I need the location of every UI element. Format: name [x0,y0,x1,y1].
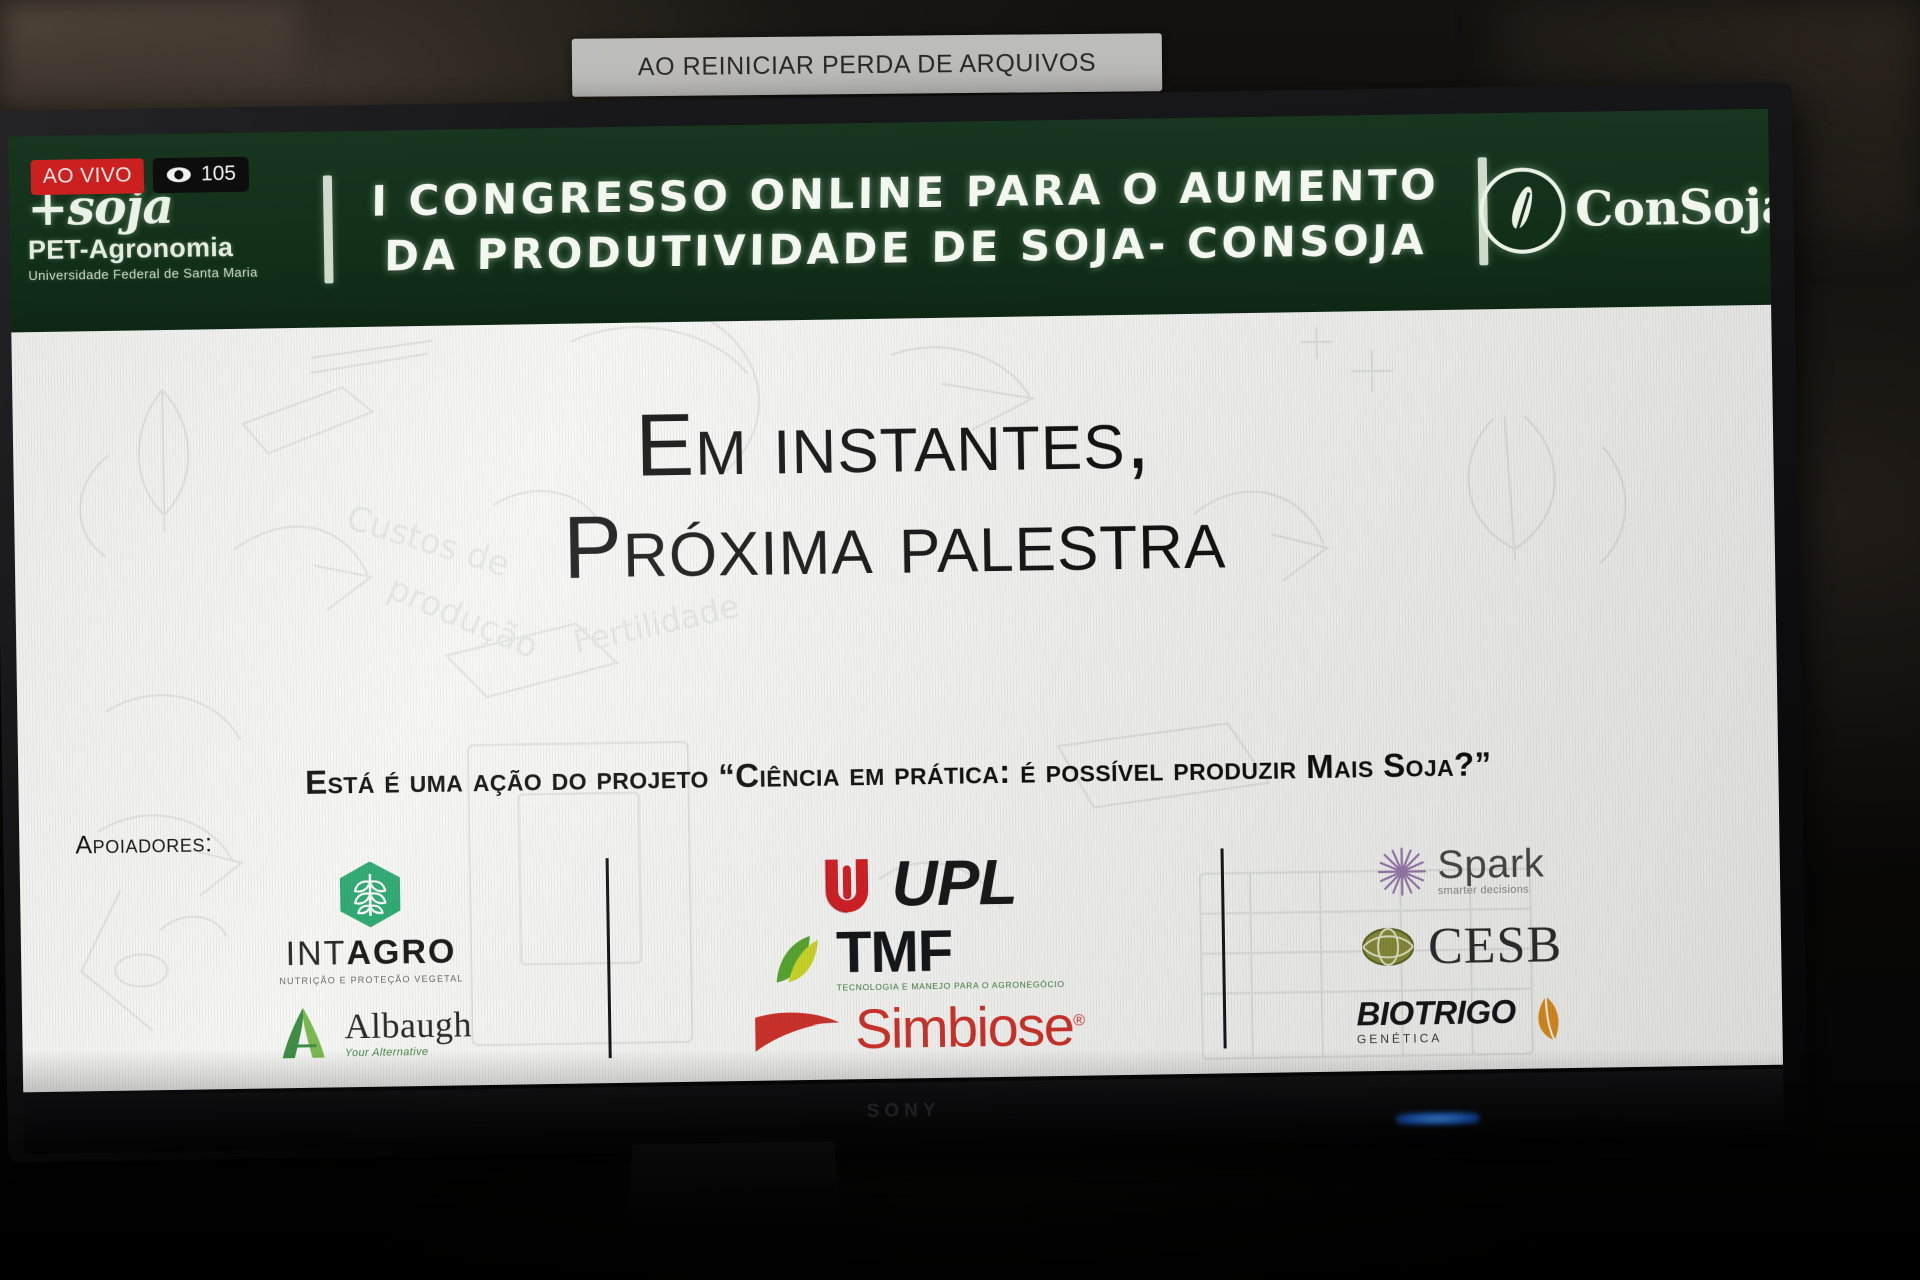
live-badge[interactable]: AO VIVO [31,158,145,195]
spark-wordmark: Spark [1437,843,1545,885]
biotrigo-text: BIOTRIGO GENÉTICA [1356,995,1516,1046]
slide-header-band: +soja PET-Agronomia Universidade Federal… [8,109,1771,333]
upl-wordmark: UPL [891,845,1017,921]
sponsor-cesb[interactable]: CESB [1360,915,1563,977]
sponsor-tmf[interactable]: TMF TECNOLOGIA E MANEJO PARA O AGRONEGÓC… [768,922,1065,993]
biotrigo-wordmark: BIOTRIGO [1356,995,1516,1030]
albaugh-wordmark: Albaugh [344,1003,472,1047]
sponsor-divider-1 [606,858,612,1058]
congress-title-line-1: I CONGRESSO ONLINE PARA O AUMENTO [371,160,1439,226]
wall-light-left [0,0,300,120]
soybean-leaf-circle-icon [1479,167,1566,254]
os-notification-toast[interactable]: AO REINICIAR PERDA DE ARQUIVOS [572,33,1163,97]
supporters-label: Apoiadores: [75,829,213,860]
intagro-word-part-2: AGRO [346,932,457,972]
viewer-count-badge[interactable]: 105 [153,157,250,194]
slide-body: Custos de produção Fertilidade Em instan… [11,305,1783,1093]
header-logo-right: ConSoja [1501,164,1770,254]
sponsor-column-2: UPL TMF [694,843,1137,1063]
sponsor-upl[interactable]: UPL [813,845,1017,922]
hexagon-leaf-icon [340,861,401,928]
sponsor-spark[interactable]: Spark smarter decisions [1375,843,1545,898]
viewer-count-value: 105 [201,162,236,187]
sponsor-biotrigo[interactable]: BIOTRIGO GENÉTICA [1356,994,1568,1047]
consoja-wordmark: ConSoja [1575,178,1783,237]
spark-burst-icon [1375,845,1428,898]
presentation-slide: +soja PET-Agronomia Universidade Federal… [8,109,1783,1093]
tmf-leaf-icon [768,929,827,990]
simbiose-registered: ® [1073,1012,1084,1029]
upl-u-shield-icon [813,851,880,918]
cesb-wordmark: CESB [1428,915,1563,976]
sponsor-column-3: Spark smarter decisions [1310,842,1613,1048]
tmf-wordmark: TMF [836,924,953,981]
spark-text: Spark smarter decisions [1437,843,1545,897]
spark-tagline: smarter decisions [1438,883,1529,896]
biotrigo-tagline: GENÉTICA [1357,1031,1443,1046]
congress-title-line-2: DA PRODUTIVIDADE DE SOJA- CONSOJA [384,215,1428,280]
eye-icon [166,167,192,183]
desk-shadow [0,1050,1920,1280]
monitor-screen: +soja PET-Agronomia Universidade Federal… [8,109,1783,1093]
header-logo-left: +soja PET-Agronomia Universidade Federal… [9,180,311,283]
cesb-sphere-icon [1360,923,1417,970]
congress-title: I CONGRESSO ONLINE PARA O AUMENTO DA PRO… [346,160,1465,282]
sponsor-intagro[interactable]: INTAGRO NUTRIÇÃO E PROTEÇÃO VEGETAL [277,860,463,986]
intagro-tagline: NUTRIÇÃO E PROTEÇÃO VEGETAL [279,973,463,986]
intagro-word-part-1: INT [285,934,346,973]
intagro-wordmark: INTAGRO [285,932,456,974]
pet-agronomia-label: PET-Agronomia [28,231,310,266]
headline-block: Em instantes, Próxima palestra [12,377,1775,607]
sponsor-column-1: INTAGRO NUTRIÇÃO E PROTEÇÃO VEGETAL [220,859,523,1065]
stream-status-overlay: AO VIVO 105 [31,157,250,195]
header-divider-left [323,175,334,283]
photo-scene: AO REINICIAR PERDA DE ARQUIVOS +soja PET… [0,0,1920,1280]
sponsor-logos: INTAGRO NUTRIÇÃO E PROTEÇÃO VEGETAL [219,827,1612,1079]
os-notification-text: AO REINICIAR PERDA DE ARQUIVOS [638,48,1097,81]
biotrigo-grain-icon [1523,994,1568,1045]
university-label: Universidade Federal de Santa Maria [28,264,310,283]
svg-text:Fertilidade: Fertilidade [570,587,743,662]
sponsor-divider-2 [1221,848,1227,1048]
monitor: +soja PET-Agronomia Universidade Federal… [0,81,1874,1170]
tmf-text: TMF TECNOLOGIA E MANEJO PARA O AGRONEGÓC… [836,922,1065,992]
